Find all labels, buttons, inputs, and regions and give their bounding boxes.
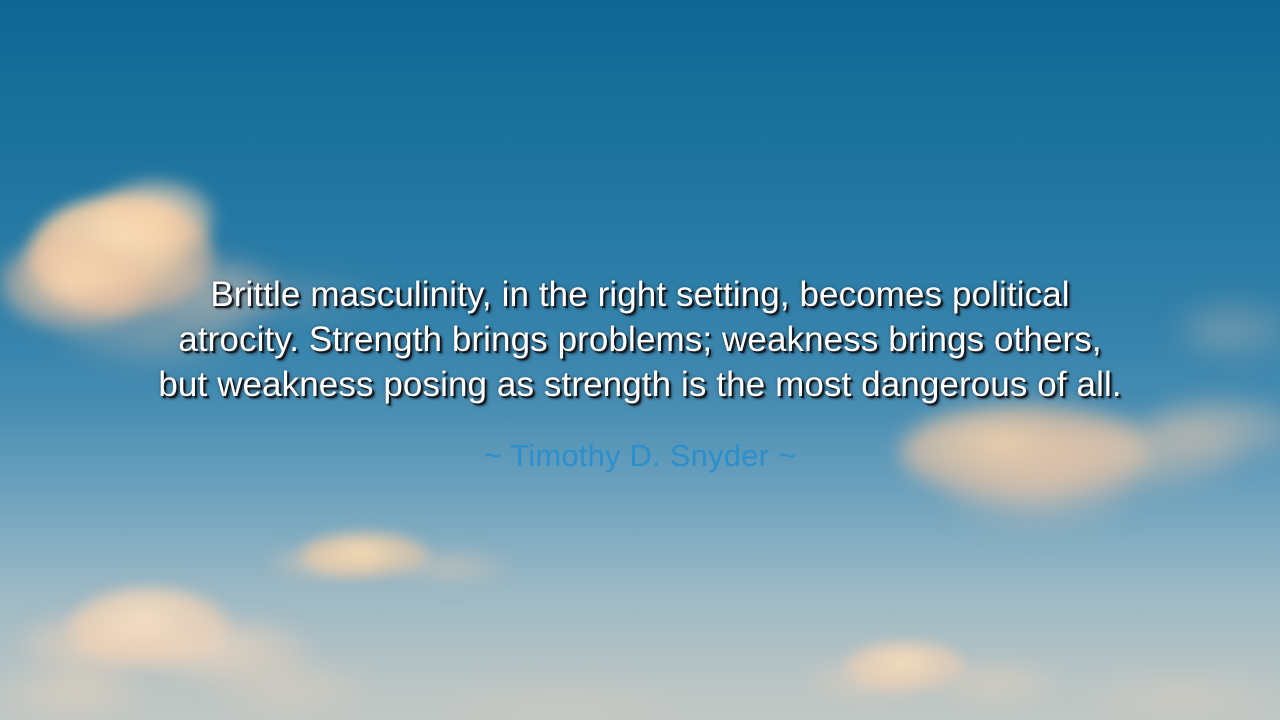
quote-line-2: atrocity. Strength brings problems; weak…	[56, 317, 1224, 362]
quote-line-1: Brittle masculinity, in the right settin…	[56, 272, 1224, 317]
quote-block: Brittle masculinity, in the right settin…	[0, 272, 1280, 407]
quote-line-3: but weakness posing as strength is the m…	[56, 362, 1224, 407]
author-attribution: ~ Timothy D. Snyder ~	[0, 437, 1280, 475]
author-name: ~ Timothy D. Snyder ~	[0, 437, 1280, 475]
quote-card: Brittle masculinity, in the right settin…	[0, 0, 1280, 720]
